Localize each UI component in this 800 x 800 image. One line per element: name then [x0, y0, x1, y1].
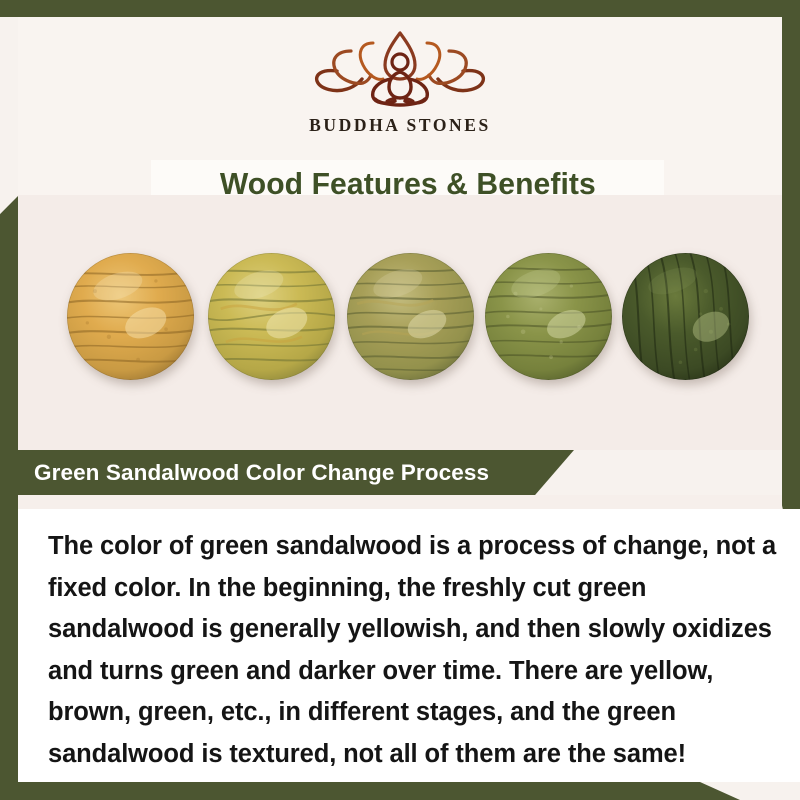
bead-stage-5 [622, 253, 749, 380]
frame-border-right [782, 17, 800, 585]
section-banner: Green Sandalwood Color Change Process [18, 450, 574, 495]
frame-border-bottom-taper [700, 782, 740, 800]
frame-border-top [0, 0, 800, 17]
header-region: BUDDHA STONES Wood Features & Benefits [18, 17, 782, 195]
wood-bead-icon [485, 253, 612, 380]
brand-logo: BUDDHA STONES [18, 27, 782, 136]
frame-border-bottom [0, 782, 700, 800]
frame-border-left [0, 196, 18, 800]
lotus-meditation-figure-icon [307, 27, 493, 111]
wood-bead-icon [67, 253, 194, 380]
infographic-page: BUDDHA STONES Wood Features & Benefits [0, 0, 800, 800]
section-banner-title: Green Sandalwood Color Change Process [34, 460, 489, 486]
body-panel: The color of green sandalwood is a proce… [18, 509, 800, 782]
bead-row [18, 195, 782, 450]
wood-bead-icon [208, 253, 335, 380]
body-paragraph: The color of green sandalwood is a proce… [48, 526, 778, 775]
bead-stage-2 [208, 253, 335, 380]
wood-bead-icon [622, 253, 749, 380]
brand-name: BUDDHA STONES [309, 115, 491, 136]
bead-stage-1 [67, 253, 194, 380]
bead-stage-3 [347, 253, 474, 380]
bead-stage-4 [485, 253, 612, 380]
banner-gap-strip [18, 495, 782, 509]
bead-showcase-region [18, 195, 782, 450]
wood-bead-icon [347, 253, 474, 380]
